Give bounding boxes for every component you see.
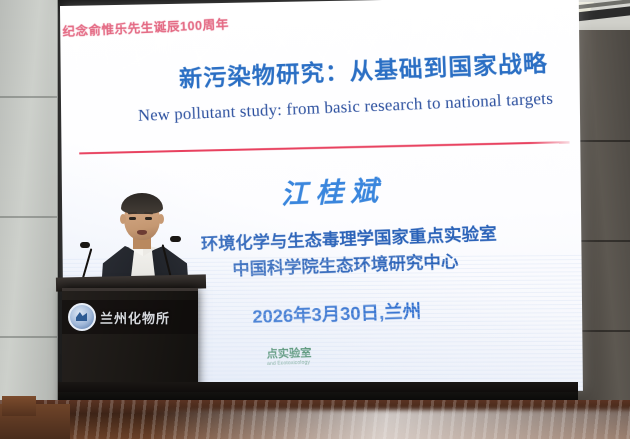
mouth — [137, 230, 147, 235]
microphone-head-left — [80, 242, 90, 248]
floor-glare — [150, 410, 630, 439]
slide-speaker-name: 江桂斌 — [280, 168, 386, 211]
eye-left — [129, 217, 136, 220]
eye-right — [145, 217, 152, 220]
slide-title-chinese: 新污染物研究：从基础到国家战略 — [178, 44, 548, 94]
watermark-right-en: and Ecotoxicology — [267, 360, 312, 367]
side-table — [2, 396, 36, 416]
podium-nameplate: 兰州化物所 — [62, 300, 198, 334]
podium-logo-icon — [68, 303, 96, 331]
ear-left — [120, 214, 126, 224]
conference-photo: 纪念俞惟乐先生诞辰100周年 新污染物研究：从基础到国家战略 New pollu… — [0, 0, 630, 439]
slide-divider-line — [79, 141, 569, 154]
slide-title-english: New pollutant study: from basic research… — [138, 88, 554, 126]
ear-right — [158, 214, 164, 224]
wall-left — [0, 0, 62, 439]
hair — [121, 193, 163, 214]
slide-banner: 纪念俞惟乐先生诞辰100周年 — [62, 13, 229, 40]
podium-nameplate-text: 兰州化物所 — [100, 308, 170, 327]
slide-watermark-right: 点实验室 and Ecotoxicology — [266, 349, 311, 367]
stage-floor — [0, 400, 630, 439]
microphone-head-right — [170, 236, 181, 242]
